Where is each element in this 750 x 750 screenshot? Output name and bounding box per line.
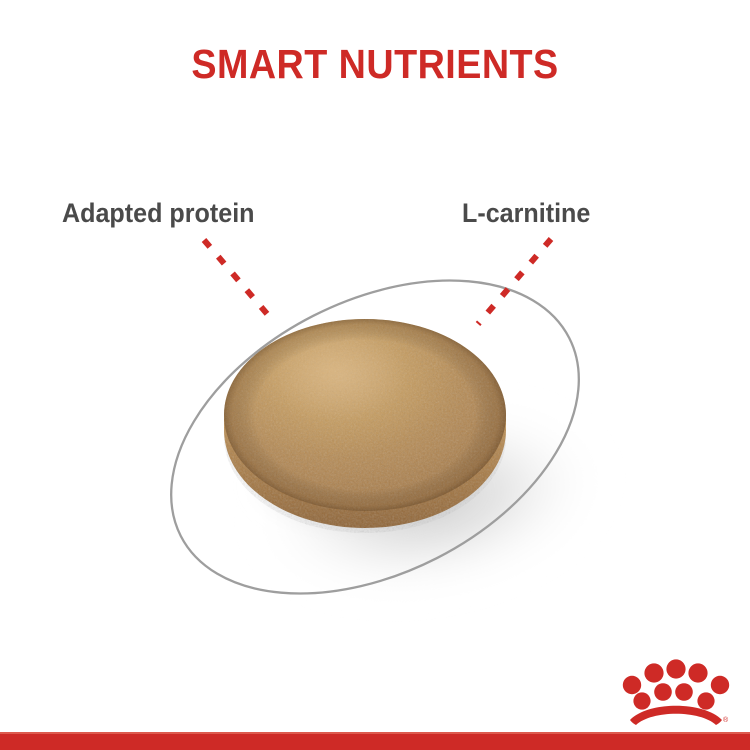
kibble-scene-svg — [0, 0, 750, 750]
kibble-illustration — [0, 0, 750, 750]
leader-line-l-carnitine — [478, 239, 551, 324]
callout-label-l-carnitine: L-carnitine — [462, 198, 590, 229]
callout-label-adapted-protein: Adapted protein — [62, 198, 255, 229]
bottom-accent-bar — [0, 732, 750, 750]
registered-trademark-symbol: ® — [723, 716, 729, 724]
royal-canin-logo: ® — [622, 648, 730, 726]
leader-line-adapted-protein — [204, 240, 274, 322]
product-feature-panel: SMART NUTRIENTS — [0, 0, 750, 750]
crown-logo-icon: ® — [622, 648, 730, 726]
